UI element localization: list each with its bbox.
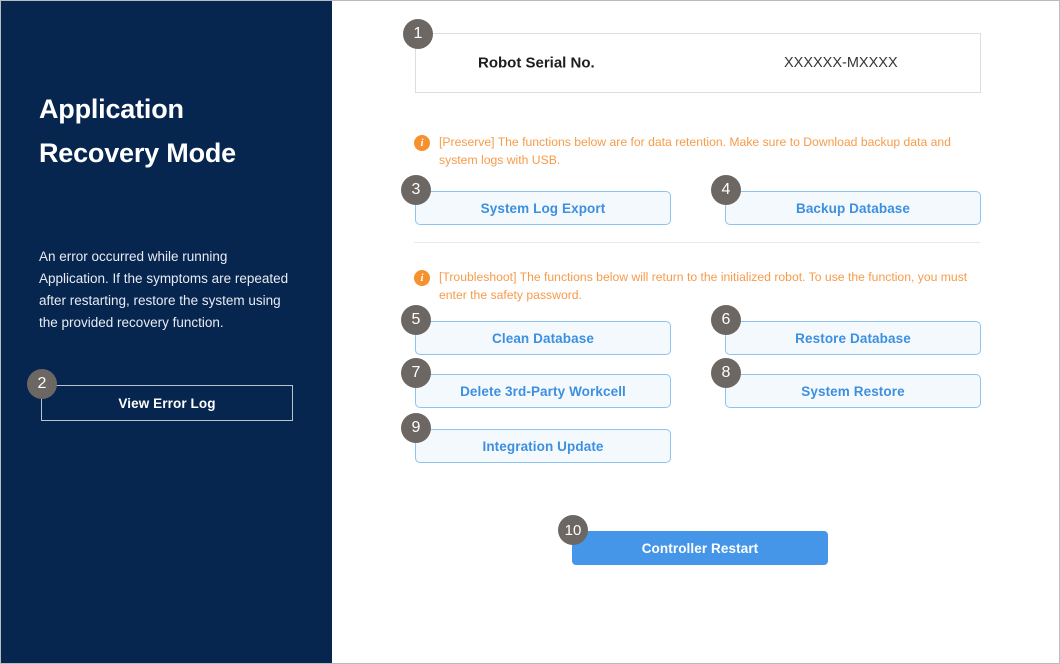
- clean-database-button[interactable]: Clean Database: [415, 321, 671, 355]
- integration-update-wrapper: 9 Integration Update: [415, 429, 671, 463]
- preserve-notice-text: [Preserve] The functions below are for d…: [439, 133, 976, 169]
- step-badge-10: 10: [558, 515, 588, 545]
- backup-database-wrapper: 4 Backup Database: [725, 191, 981, 225]
- restore-database-wrapper: 6 Restore Database: [725, 321, 981, 355]
- delete-3rd-party-workcell-wrapper: 7 Delete 3rd-Party Workcell: [415, 374, 671, 408]
- main-content: 1 Robot Serial No. XXXXXX-MXXXX i [Prese…: [332, 1, 1059, 663]
- integration-update-button[interactable]: Integration Update: [415, 429, 671, 463]
- system-restore-button[interactable]: System Restore: [725, 374, 981, 408]
- robot-serial-value: XXXXXX-MXXXX: [784, 55, 898, 71]
- view-error-log-button[interactable]: View Error Log: [41, 385, 293, 421]
- system-log-export-wrapper: 3 System Log Export: [415, 191, 671, 225]
- info-icon: i: [414, 135, 430, 151]
- recovery-description: An error occurred while running Applicat…: [39, 246, 294, 334]
- system-restore-wrapper: 8 System Restore: [725, 374, 981, 408]
- system-log-export-button[interactable]: System Log Export: [415, 191, 671, 225]
- info-icon: i: [414, 270, 430, 286]
- step-badge-3: 3: [401, 175, 431, 205]
- troubleshoot-notice: i [Troubleshoot] The functions below wil…: [414, 268, 976, 304]
- step-badge-2: 2: [27, 369, 57, 399]
- backup-database-button[interactable]: Backup Database: [725, 191, 981, 225]
- restore-database-button[interactable]: Restore Database: [725, 321, 981, 355]
- preserve-notice: i [Preserve] The functions below are for…: [414, 133, 976, 169]
- step-badge-4: 4: [711, 175, 741, 205]
- controller-restart-button[interactable]: Controller Restart: [572, 531, 828, 565]
- application-recovery-mode-screen: Application Recovery Mode An error occur…: [0, 0, 1060, 664]
- delete-3rd-party-workcell-button[interactable]: Delete 3rd-Party Workcell: [415, 374, 671, 408]
- step-badge-1: 1: [403, 19, 433, 49]
- clean-database-wrapper: 5 Clean Database: [415, 321, 671, 355]
- step-badge-9: 9: [401, 413, 431, 443]
- sidebar: Application Recovery Mode An error occur…: [1, 1, 332, 663]
- section-divider: [414, 242, 980, 243]
- robot-serial-label: Robot Serial No.: [478, 55, 595, 72]
- page-title: Application Recovery Mode: [39, 87, 279, 175]
- view-error-log-wrapper: 2 View Error Log: [41, 385, 293, 421]
- step-badge-8: 8: [711, 358, 741, 388]
- troubleshoot-notice-text: [Troubleshoot] The functions below will …: [439, 268, 976, 304]
- step-badge-6: 6: [711, 305, 741, 335]
- step-badge-5: 5: [401, 305, 431, 335]
- step-badge-7: 7: [401, 358, 431, 388]
- controller-restart-wrapper: 10 Controller Restart: [572, 531, 828, 565]
- robot-serial-card: Robot Serial No. XXXXXX-MXXXX: [415, 33, 981, 93]
